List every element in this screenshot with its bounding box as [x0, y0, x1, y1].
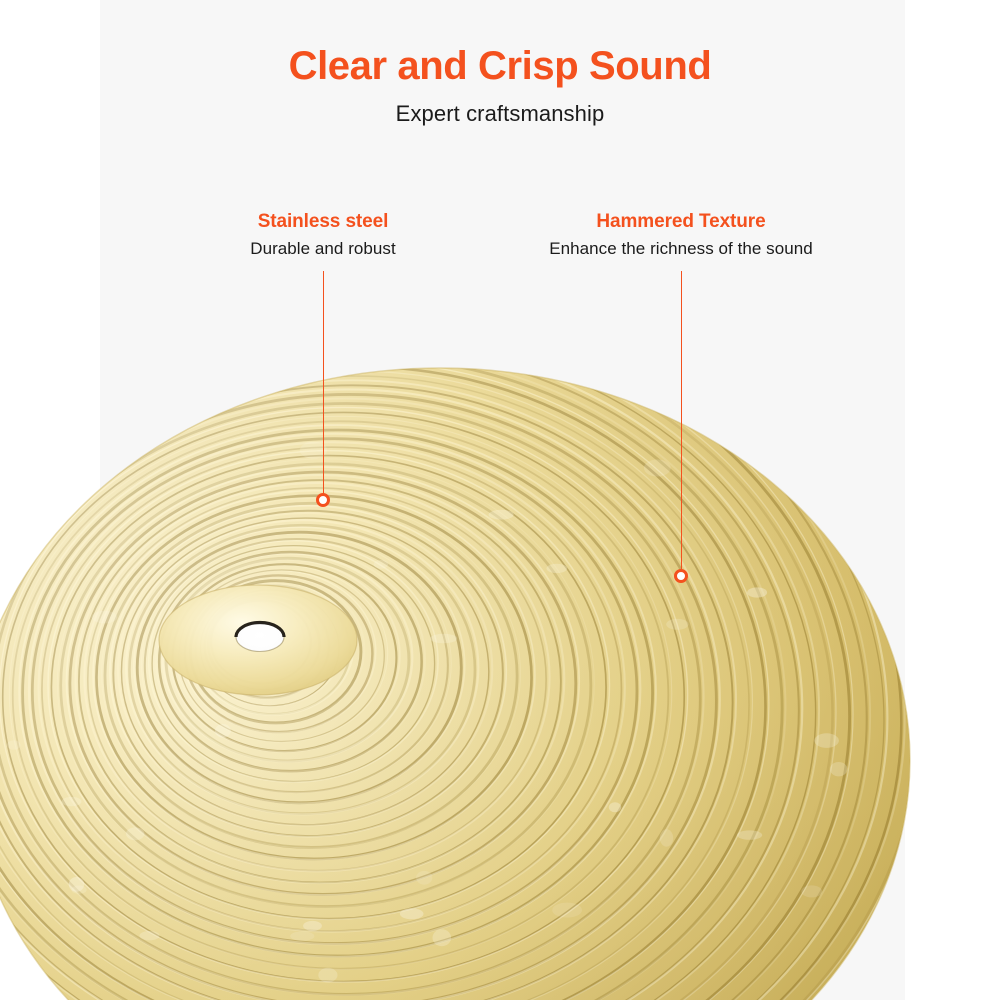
pointer-ring-stainless-steel: [316, 493, 330, 507]
product-photo-cymbal: [0, 0, 1000, 1000]
leader-line-hammered-texture: [681, 271, 682, 569]
cymbal-disc: [0, 124, 1000, 1000]
callout-hammered-texture: Hammered Texture Enhance the richness of…: [549, 211, 812, 259]
callout-stainless-steel-title: Stainless steel: [250, 211, 396, 233]
callout-hammered-texture-title: Hammered Texture: [549, 211, 812, 233]
page-title: Clear and Crisp Sound: [0, 44, 1000, 89]
leader-line-stainless-steel: [323, 271, 324, 494]
header-block: Clear and Crisp Sound Expert craftsmansh…: [0, 44, 1000, 127]
page-subtitle: Expert craftsmanship: [0, 101, 1000, 127]
infographic-canvas: Clear and Crisp Sound Expert craftsmansh…: [0, 0, 1000, 1000]
callout-stainless-steel-subtitle: Durable and robust: [250, 239, 396, 259]
cymbal-illustration: [0, 0, 1000, 1000]
pointer-ring-hammered-texture: [674, 569, 688, 583]
callout-stainless-steel: Stainless steel Durable and robust: [250, 211, 396, 259]
callout-hammered-texture-subtitle: Enhance the richness of the sound: [549, 239, 812, 259]
